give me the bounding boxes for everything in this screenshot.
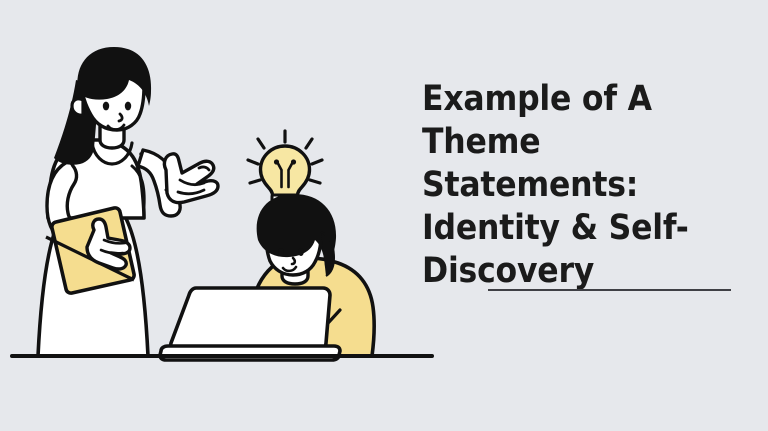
boy-eye-left (278, 248, 284, 256)
title-underline-rule (488, 289, 731, 291)
slide-canvas: Example of A Theme Statements: Identity … (0, 0, 768, 431)
woman-ear (72, 99, 83, 115)
teacher-and-student-with-laptop-illustration (0, 0, 440, 431)
woman-eye-right (125, 102, 131, 111)
lightbulb-filament-node-right (291, 159, 296, 164)
lightbulb-filament-node-left (274, 159, 279, 164)
lightbulb-glass (261, 146, 310, 197)
woman-eye-left (103, 102, 109, 111)
title-block: Example of A Theme Statements: Identity … (422, 78, 762, 293)
page-title: Example of A Theme Statements: Identity … (422, 78, 762, 293)
laptop (160, 288, 340, 360)
woman-open-hand (164, 154, 218, 203)
boy-eye-right (298, 248, 304, 256)
laptop-screen-back (171, 288, 330, 350)
